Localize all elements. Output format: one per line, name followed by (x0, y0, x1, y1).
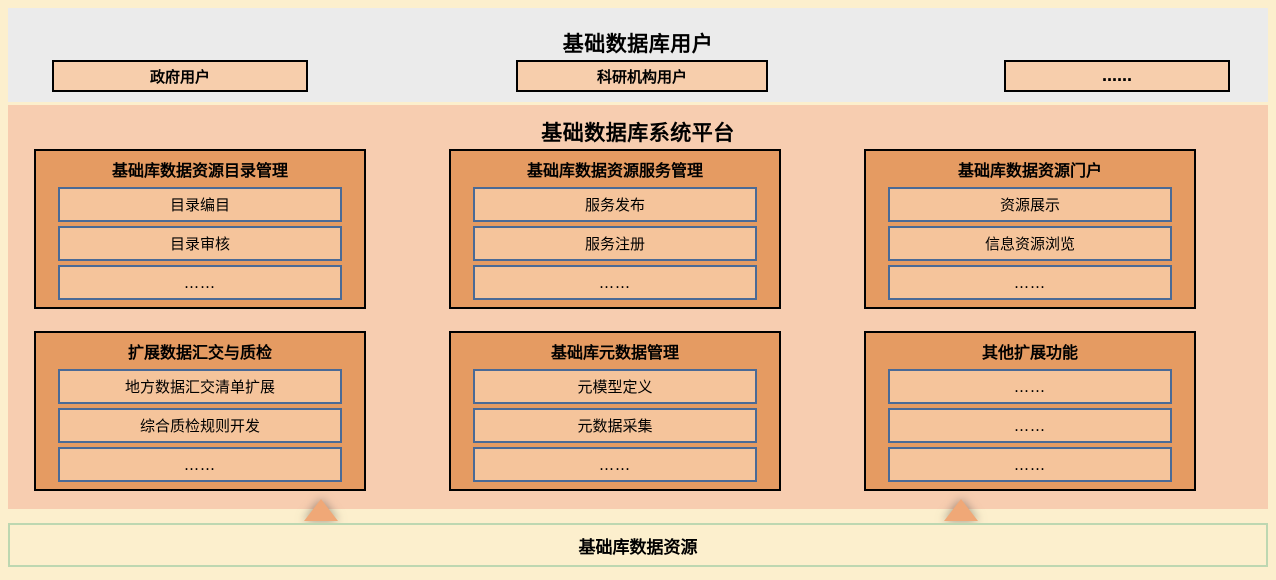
module-data-submission-quality[interactable]: 扩展数据汇交与质检 地方数据汇交清单扩展 综合质检规则开发 …… (34, 331, 366, 491)
module-item-more[interactable]: …… (473, 447, 757, 482)
module-item-list: 资源展示 信息资源浏览 …… (888, 187, 1172, 300)
module-item[interactable]: 服务发布 (473, 187, 757, 222)
module-item-list: 目录编目 目录审核 …… (58, 187, 342, 300)
module-item-more[interactable]: …… (888, 369, 1172, 404)
up-arrow-icon (944, 499, 978, 521)
user-box-government[interactable]: 政府用户 (52, 60, 308, 92)
module-item-list: 服务发布 服务注册 …… (473, 187, 757, 300)
module-item-more[interactable]: …… (58, 447, 342, 482)
platform-panel: 基础数据库系统平台 基础库数据资源目录管理 目录编目 目录审核 …… 基础库数据… (8, 105, 1268, 509)
module-item[interactable]: 元数据采集 (473, 408, 757, 443)
module-item[interactable]: 元模型定义 (473, 369, 757, 404)
module-title: 其他扩展功能 (888, 339, 1172, 369)
module-item[interactable]: 综合质检规则开发 (58, 408, 342, 443)
module-item[interactable]: 目录审核 (58, 226, 342, 261)
module-title: 扩展数据汇交与质检 (58, 339, 342, 369)
module-item-more[interactable]: …… (888, 447, 1172, 482)
platform-panel-title: 基础数据库系统平台 (8, 117, 1268, 147)
module-resource-portal[interactable]: 基础库数据资源门户 资源展示 信息资源浏览 …… (864, 149, 1196, 309)
module-title: 基础库数据资源服务管理 (473, 157, 757, 187)
module-item[interactable]: 服务注册 (473, 226, 757, 261)
module-item-list: 地方数据汇交清单扩展 综合质检规则开发 …… (58, 369, 342, 482)
resources-bar: 基础库数据资源 (8, 523, 1268, 567)
module-item-list: 元模型定义 元数据采集 …… (473, 369, 757, 482)
module-metadata-management[interactable]: 基础库元数据管理 元模型定义 元数据采集 …… (449, 331, 781, 491)
module-title: 基础库元数据管理 (473, 339, 757, 369)
architecture-diagram: 基础数据库用户 政府用户 科研机构用户 …… 基础数据库系统平台 基础库数据资源… (0, 0, 1276, 580)
users-panel: 基础数据库用户 政府用户 科研机构用户 …… (8, 8, 1268, 102)
up-arrow-icon (304, 499, 338, 521)
module-catalog-management[interactable]: 基础库数据资源目录管理 目录编目 目录审核 …… (34, 149, 366, 309)
users-box-row: 政府用户 科研机构用户 …… (8, 60, 1268, 94)
users-panel-title: 基础数据库用户 (8, 28, 1268, 58)
module-item-list: …… …… …… (888, 369, 1172, 482)
module-item-more[interactable]: …… (58, 265, 342, 300)
module-item[interactable]: 信息资源浏览 (888, 226, 1172, 261)
module-item-more[interactable]: …… (888, 408, 1172, 443)
module-title: 基础库数据资源目录管理 (58, 157, 342, 187)
module-item[interactable]: 地方数据汇交清单扩展 (58, 369, 342, 404)
modules-grid: 基础库数据资源目录管理 目录编目 目录审核 …… 基础库数据资源服务管理 服务发… (34, 149, 1200, 491)
module-item-more[interactable]: …… (888, 265, 1172, 300)
module-title: 基础库数据资源门户 (888, 157, 1172, 187)
module-item[interactable]: 目录编目 (58, 187, 342, 222)
module-service-management[interactable]: 基础库数据资源服务管理 服务发布 服务注册 …… (449, 149, 781, 309)
module-item-more[interactable]: …… (473, 265, 757, 300)
module-other-extensions[interactable]: 其他扩展功能 …… …… …… (864, 331, 1196, 491)
user-box-more[interactable]: …… (1004, 60, 1230, 92)
module-item[interactable]: 资源展示 (888, 187, 1172, 222)
user-box-research-institution[interactable]: 科研机构用户 (516, 60, 768, 92)
